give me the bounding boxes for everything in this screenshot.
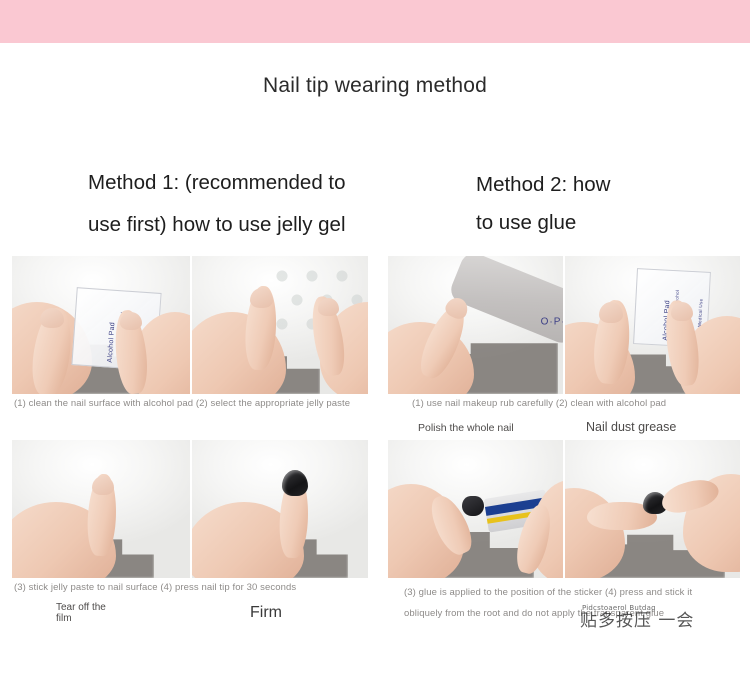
method-2-photo-row-1: O·P·I Alcohol Pad 70% Isopropyl Alcohol … [388,256,740,394]
photo-stick-jelly-paste [12,440,190,578]
watermark-cjk: 贴多按压 一会 [580,606,694,631]
label-tear-off-film-line-1: Tear off the [56,602,106,613]
label-polish-whole-nail: Polish the whole nail [418,422,514,434]
method-1-heading-line-2: use first) how to use jelly gel [88,204,363,246]
method-2-heading-line-2: to use glue [476,204,686,242]
method-1-photo-row-1: Alcohol Pad 70% Isopropyl Alcohol For Me… [12,256,368,394]
photo-apply-glue [388,440,563,578]
method-1-card: Alcohol Pad 70% Isopropyl Alcohol For Me… [10,252,368,637]
photo-press-and-stick [565,440,740,578]
photo-press-nail-tip-30s [192,440,368,578]
method-1-caption-2: (3) stick jelly paste to nail surface (4… [14,582,296,593]
method-2-photo-row-2 [388,440,740,578]
label-tear-off-film: Tear off the film [56,602,106,624]
photo-select-jelly-paste [192,256,368,394]
method-2-caption-1: (1) use nail makeup rub carefully (2) cl… [412,398,666,409]
nail-file-brand-text: O·P·I [541,317,563,328]
label-firm: Firm [250,604,282,622]
photo-clean-with-alcohol-pad: Alcohol Pad 70% Isopropyl Alcohol For Me… [565,256,740,394]
label-nail-dust-grease: Nail dust grease [586,420,676,434]
label-tear-off-film-line-2: film [56,613,106,624]
method-2-heading: Method 2: how to use glue [476,166,686,242]
product-detail-page: Nail tip wearing method Method 1: (recom… [0,0,750,678]
method-1-heading: Method 1: (recommended to use first) how… [88,162,363,246]
photo-clean-nail-alcohol-pad: Alcohol Pad 70% Isopropyl Alcohol For Me… [12,256,190,394]
method-1-heading-line-1: Method 1: (recommended to [88,162,363,204]
method-2-heading-line-1: Method 2: how [476,166,686,204]
photo-use-nail-file: O·P·I [388,256,563,394]
method-1-photo-row-2 [12,440,368,578]
page-title: Nail tip wearing method [0,74,750,98]
method-2-caption-2-line-1: (3) glue is applied to the position of t… [404,582,734,603]
method-1-caption-1: (1) clean the nail surface with alcohol … [14,398,350,409]
top-banner [0,0,750,43]
method-2-card: O·P·I Alcohol Pad 70% Isopropyl Alcohol … [386,252,742,637]
